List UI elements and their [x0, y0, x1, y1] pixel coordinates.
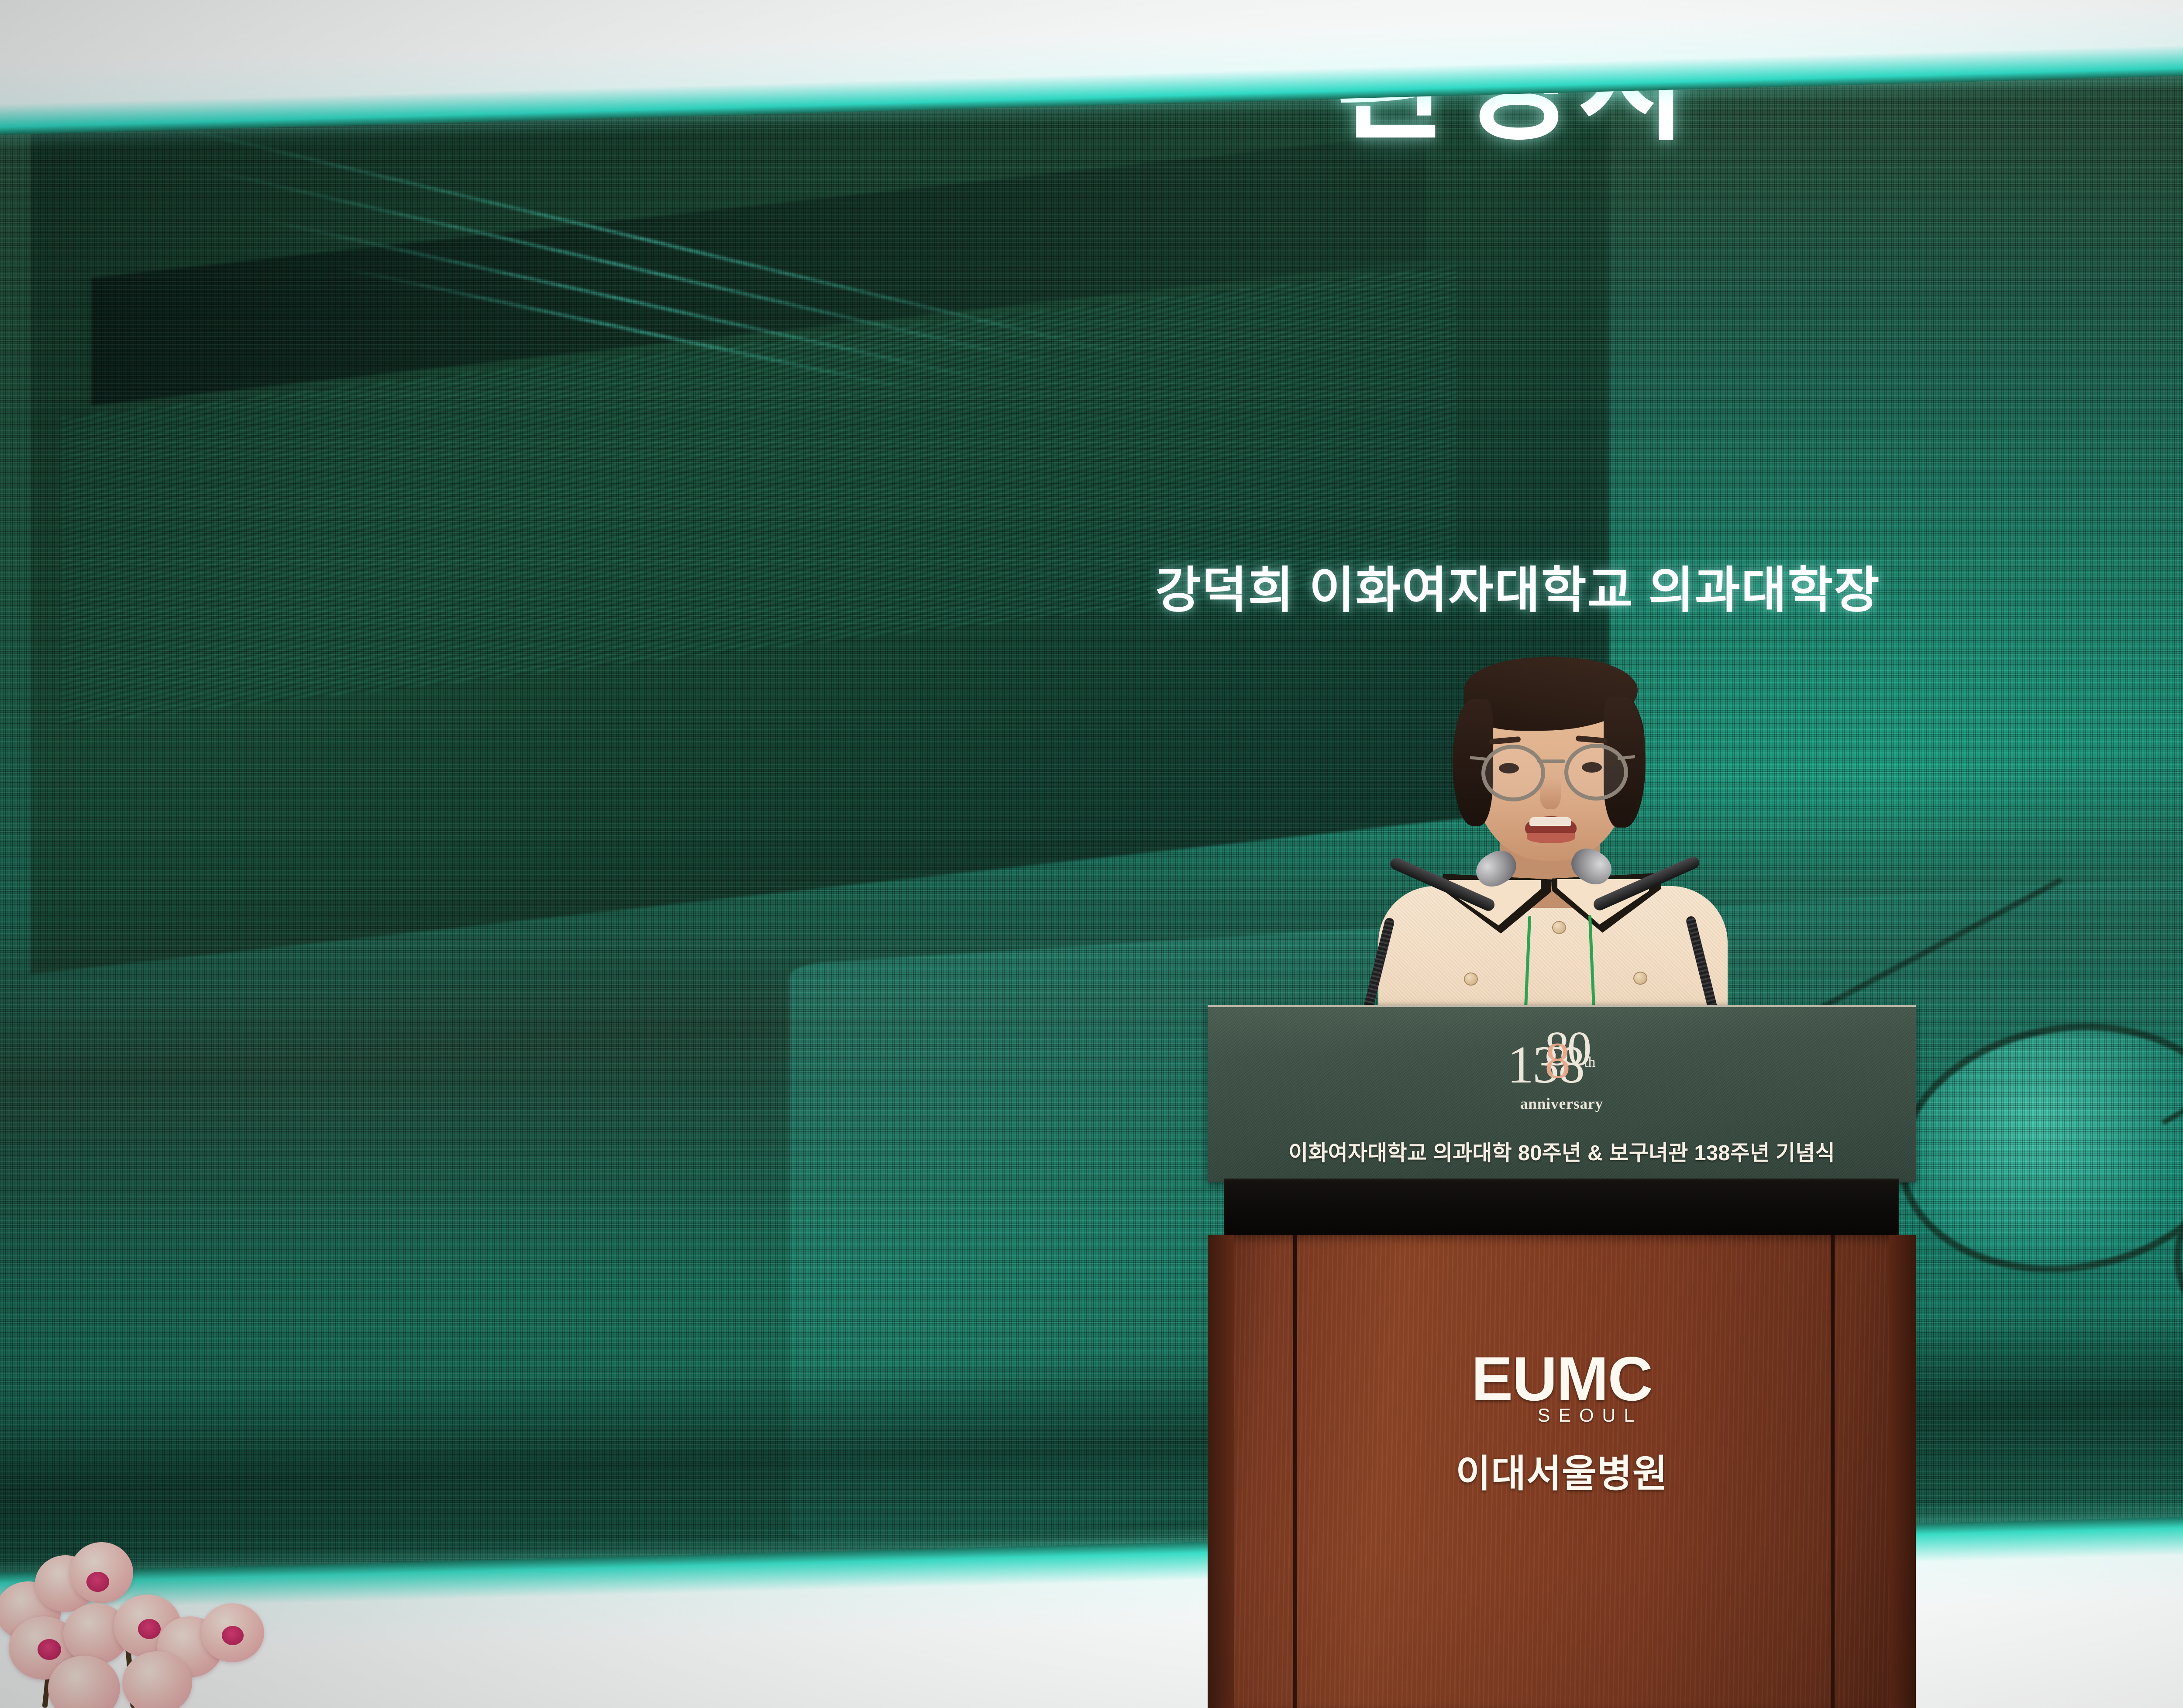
- speaker-figure: [1356, 659, 1749, 1052]
- lectern: 138 80 8 th anniversary 이화여자대학교 의과대학 80주…: [1208, 1005, 1916, 1708]
- anniversary-logo-8-accent: 8: [1545, 1035, 1568, 1086]
- lectern-banner-title: 이화여자대학교 의과대학 80주년 & 보구녀관 138주년 기념식: [1208, 1136, 1916, 1167]
- anniversary-logo-word: anniversary: [1208, 1096, 1916, 1111]
- hospital-logo-city: SEOUL: [1264, 1405, 1916, 1426]
- speaker-nose: [1540, 778, 1561, 809]
- hospital-logo-hangul: 이대서울병원: [1208, 1443, 1916, 1498]
- glasses-bridge: [1537, 759, 1565, 763]
- stage-scene: 0 13 anniv 환영사 강덕희 이화여자대학교 의과대학장: [0, 0, 2183, 1708]
- hospital-logo: EUMC SEOUL 이대서울병원: [1208, 1348, 1916, 1498]
- anniversary-logo-ordinal: th: [1584, 1055, 1595, 1070]
- glasses-lens-left-icon: [1481, 745, 1545, 801]
- anniversary-logo: 138 80 8 th anniversary: [1208, 1028, 1916, 1107]
- orchid-arrangement-left: [0, 1472, 314, 1708]
- glasses-lens-right-icon: [1564, 744, 1628, 801]
- lectern-top-surface: [1224, 1179, 1899, 1238]
- hospital-logo-brand: EUMC: [1471, 1344, 1652, 1414]
- lectern-wood-body: EUMC SEOUL 이대서울병원: [1208, 1235, 1916, 1708]
- speaker-lower-lip: [1527, 833, 1575, 843]
- jacket-button: [1464, 973, 1478, 986]
- lectern-banner-panel: 138 80 8 th anniversary 이화여자대학교 의과대학 80주…: [1208, 1005, 1916, 1182]
- speaker-teeth: [1529, 817, 1571, 826]
- slide-subtitle: 강덕희 이화여자대학교 의과대학장: [0, 550, 2183, 622]
- jacket-button: [1552, 921, 1566, 934]
- jacket-button: [1633, 972, 1647, 985]
